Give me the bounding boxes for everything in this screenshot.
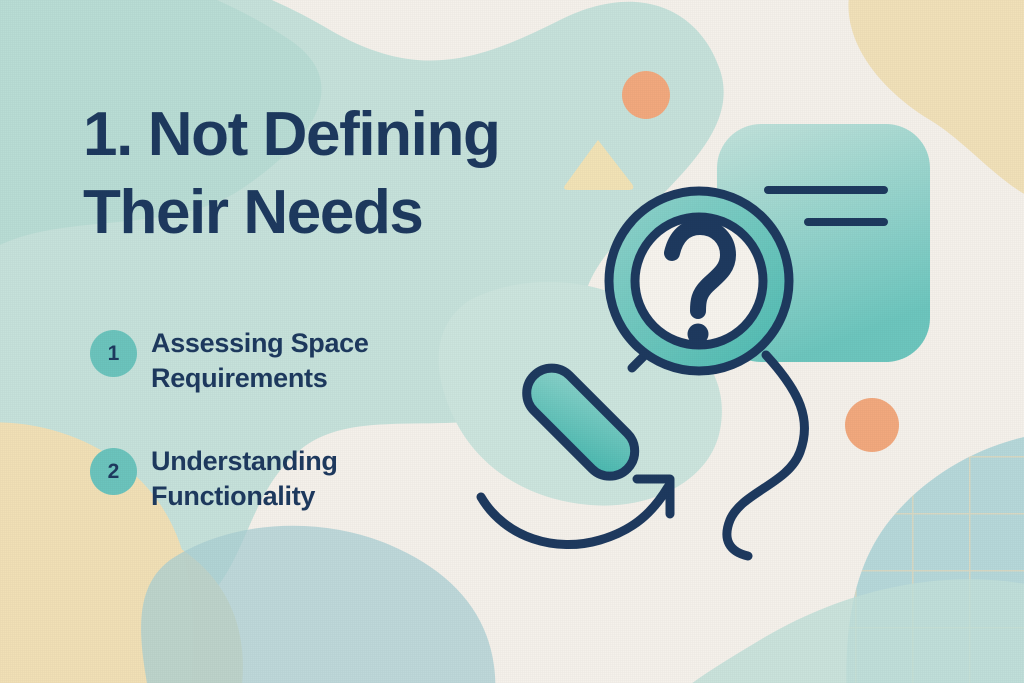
bullet-label-1: Assessing Space Requirements bbox=[151, 326, 451, 396]
list-item: 2 Understanding Functionality bbox=[90, 444, 490, 514]
list-item: 1 Assessing Space Requirements bbox=[90, 326, 490, 396]
infographic-slide: 1. Not Defining Their Needs 1 Assessing … bbox=[0, 0, 1024, 683]
bullet-badge-2: 2 bbox=[90, 448, 137, 495]
bullet-badge-1: 1 bbox=[90, 330, 137, 377]
bullet-label-2: Understanding Functionality bbox=[151, 444, 451, 514]
wavy-line-icon bbox=[727, 355, 805, 556]
page-title: 1. Not Defining Their Needs bbox=[83, 96, 553, 252]
magnifier-handle bbox=[516, 354, 646, 486]
curved-arrow-icon bbox=[481, 479, 670, 545]
title-block: 1. Not Defining Their Needs bbox=[83, 96, 553, 252]
bullet-list: 1 Assessing Space Requirements 2 Underst… bbox=[90, 326, 490, 514]
